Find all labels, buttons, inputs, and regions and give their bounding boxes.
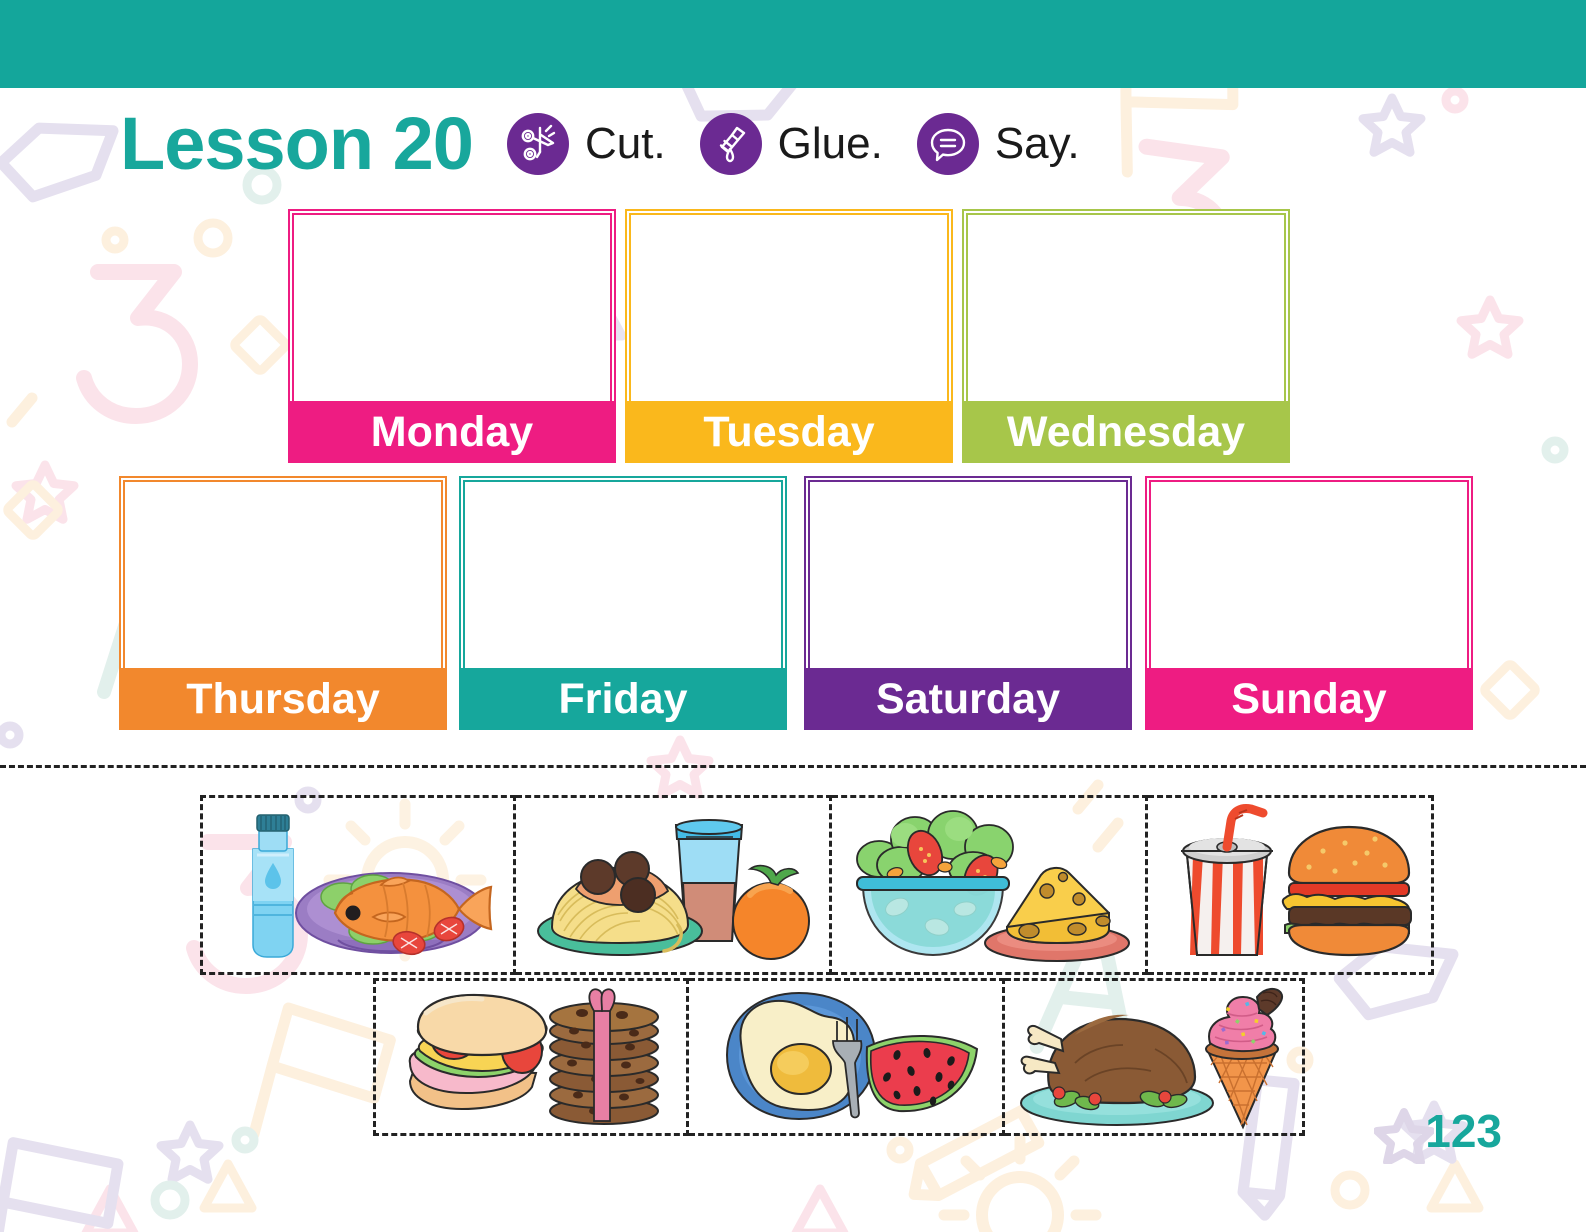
page-number: 123 (1425, 1108, 1502, 1154)
day-card-dropzone-monday[interactable] (288, 209, 616, 401)
glue-bottle-icon (700, 113, 762, 175)
day-card-sunday[interactable]: Sunday (1145, 476, 1473, 730)
day-label-friday: Friday (459, 668, 787, 730)
cut-line-divider (0, 765, 1586, 768)
instruction-cut: Cut. (507, 113, 666, 175)
day-card-wednesday[interactable]: Wednesday (962, 209, 1290, 463)
egg-and-watermelon-card[interactable] (689, 978, 1005, 1136)
page-title: Lesson 20 (120, 100, 473, 188)
top-banner-bar (0, 0, 1586, 88)
instruction-say-label: Say. (995, 122, 1080, 166)
day-label-thursday: Thursday (119, 668, 447, 730)
day-card-thursday[interactable]: Thursday (119, 476, 447, 730)
instruction-glue: Glue. (700, 113, 883, 175)
instruction-say: Say. (917, 113, 1080, 175)
instruction-glue-label: Glue. (778, 122, 883, 166)
day-card-dropzone-tuesday[interactable] (625, 209, 953, 401)
day-card-dropzone-wednesday[interactable] (962, 209, 1290, 401)
day-card-tuesday[interactable]: Tuesday (625, 209, 953, 463)
salad-and-cheese-card[interactable] (832, 795, 1148, 975)
day-card-dropzone-friday[interactable] (459, 476, 787, 668)
water-bottle-and-fish-card[interactable] (200, 795, 516, 975)
day-card-dropzone-thursday[interactable] (119, 476, 447, 668)
day-label-sunday: Sunday (1145, 668, 1473, 730)
lesson-header: Lesson 20 Cu (120, 100, 1080, 188)
soda-and-burger-card[interactable] (1148, 795, 1434, 975)
day-label-saturday: Saturday (804, 668, 1132, 730)
day-card-friday[interactable]: Friday (459, 476, 787, 730)
day-label-tuesday: Tuesday (625, 401, 953, 463)
day-label-wednesday: Wednesday (962, 401, 1290, 463)
day-card-dropzone-sunday[interactable] (1145, 476, 1473, 668)
sandwich-and-cookies-card[interactable] (373, 978, 689, 1136)
day-card-saturday[interactable]: Saturday (804, 476, 1132, 730)
scissors-icon (507, 113, 569, 175)
speech-bubble-icon (917, 113, 979, 175)
instruction-cut-label: Cut. (585, 122, 666, 166)
spaghetti-juice-orange-card[interactable] (516, 795, 832, 975)
day-card-dropzone-saturday[interactable] (804, 476, 1132, 668)
day-label-monday: Monday (288, 401, 616, 463)
turkey-and-icecream-card[interactable] (1005, 978, 1305, 1136)
day-card-monday[interactable]: Monday (288, 209, 616, 463)
